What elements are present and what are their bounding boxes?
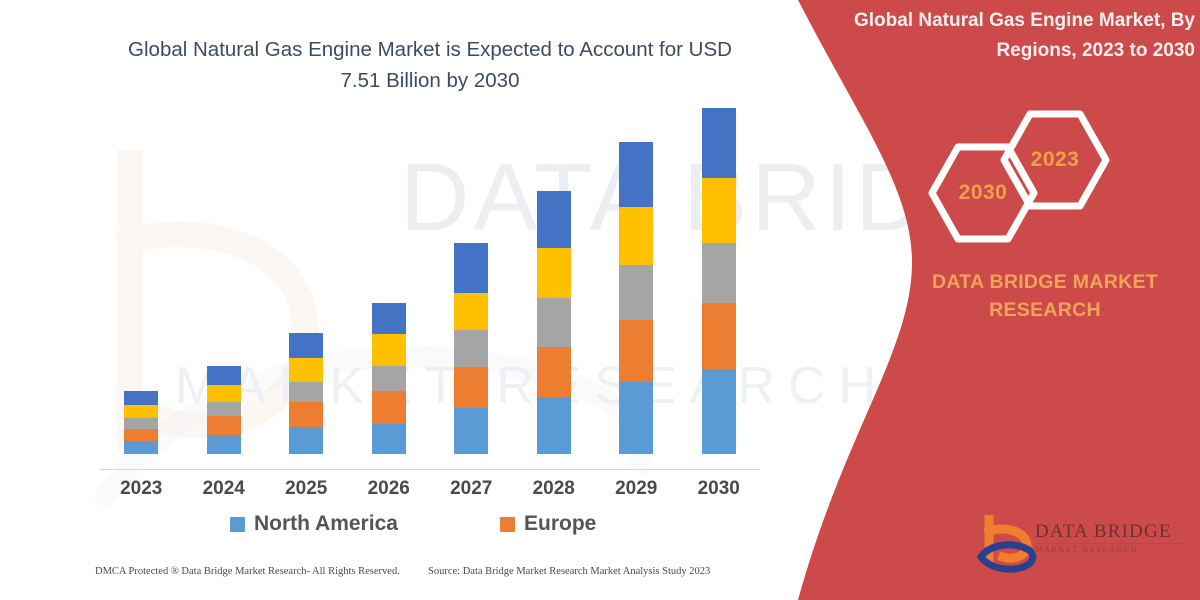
brand-name: DATA BRIDGE MARKET RESEARCH (900, 268, 1190, 324)
bar-segment (372, 303, 406, 335)
bar-2026 (372, 303, 406, 454)
bar-segment (124, 441, 158, 454)
infographic-canvas: DATA BRIDGE MARKET RESEARCH Global Natur… (0, 0, 1200, 600)
bar-segment (372, 424, 406, 454)
bar-segment (372, 391, 406, 424)
bar-segment (372, 366, 406, 391)
page-title: Global Natural Gas Engine Market is Expe… (120, 34, 740, 96)
bar-segment (207, 416, 241, 435)
legend-label: North America (254, 512, 398, 536)
bar-segment (702, 243, 736, 303)
bar-segment (619, 142, 653, 207)
x-axis-tick-labels: 20232024202520262027202820292030 (100, 478, 780, 504)
bar-2029 (619, 142, 653, 454)
legend-swatch-icon (230, 517, 245, 532)
bar-segment (289, 427, 323, 454)
bar-segment (124, 429, 158, 442)
hexagon-badge-2023: 2023 (1000, 110, 1110, 210)
bar-segment (454, 330, 488, 368)
logo-subtitle: MARKET RESEARCH (1035, 544, 1190, 556)
stacked-bar-chart (100, 140, 780, 470)
data-bridge-logo: DATA BRIDGE MARKET RESEARCH (975, 515, 1190, 577)
x-tick-2023: 2023 (106, 478, 176, 500)
panel-title: Global Natural Gas Engine Market, By Reg… (845, 6, 1195, 66)
footer: DMCA Protected ® Data Bridge Market Rese… (0, 566, 800, 590)
bar-2024 (207, 366, 241, 454)
bar-segment (702, 108, 736, 179)
legend-swatch-icon (500, 517, 515, 532)
x-axis-line (100, 469, 760, 470)
bar-segment (619, 382, 653, 454)
x-tick-2025: 2025 (271, 478, 341, 500)
bar-segment (537, 397, 571, 454)
bar-segment (289, 333, 323, 358)
x-tick-2027: 2027 (436, 478, 506, 500)
bar-segment (619, 207, 653, 265)
bar-segment (289, 358, 323, 382)
bar-segment (454, 367, 488, 408)
logo-name: DATA BRIDGE (1035, 521, 1190, 543)
footer-dmca-text: DMCA Protected ® Data Bridge Market Rese… (95, 566, 400, 577)
bar-segment (619, 265, 653, 320)
bar-segment (702, 178, 736, 243)
legend-item-north-america[interactable]: North America (230, 512, 398, 536)
legend-item-europe[interactable]: Europe (500, 512, 596, 536)
bar-segment (454, 408, 488, 454)
footer-source-text: Source: Data Bridge Market Research Mark… (428, 566, 710, 577)
chart-legend: North AmericaEurope (100, 512, 780, 546)
bar-2023 (124, 391, 158, 454)
bar-segment (619, 320, 653, 381)
bar-segment (124, 391, 158, 405)
x-tick-2026: 2026 (354, 478, 424, 500)
bar-segment (454, 293, 488, 329)
bar-segment (702, 303, 736, 369)
bar-segment (289, 382, 323, 402)
bar-segment (124, 405, 158, 418)
bar-2028 (537, 191, 571, 454)
x-tick-2030: 2030 (684, 478, 754, 500)
bar-segment (537, 298, 571, 347)
chart-plot-area (100, 140, 760, 455)
bar-segment (289, 402, 323, 427)
bar-2027 (454, 243, 488, 454)
bar-segment (537, 248, 571, 298)
bar-2025 (289, 333, 323, 454)
x-tick-2024: 2024 (189, 478, 259, 500)
bar-segment (124, 418, 158, 429)
bar-segment (372, 334, 406, 366)
bar-segment (537, 191, 571, 248)
bar-2030 (702, 108, 736, 454)
bar-segment (207, 385, 241, 402)
legend-label: Europe (524, 512, 596, 536)
x-tick-2028: 2028 (519, 478, 589, 500)
bar-segment (207, 435, 241, 454)
bar-segment (537, 347, 571, 397)
bar-segment (702, 369, 736, 454)
bar-segment (454, 243, 488, 293)
hexagon-badge-2023-label: 2023 (1000, 110, 1110, 210)
x-tick-2029: 2029 (601, 478, 671, 500)
bar-segment (207, 366, 241, 385)
logo-text-block: DATA BRIDGE MARKET RESEARCH (1035, 521, 1190, 556)
bar-segment (207, 402, 241, 416)
